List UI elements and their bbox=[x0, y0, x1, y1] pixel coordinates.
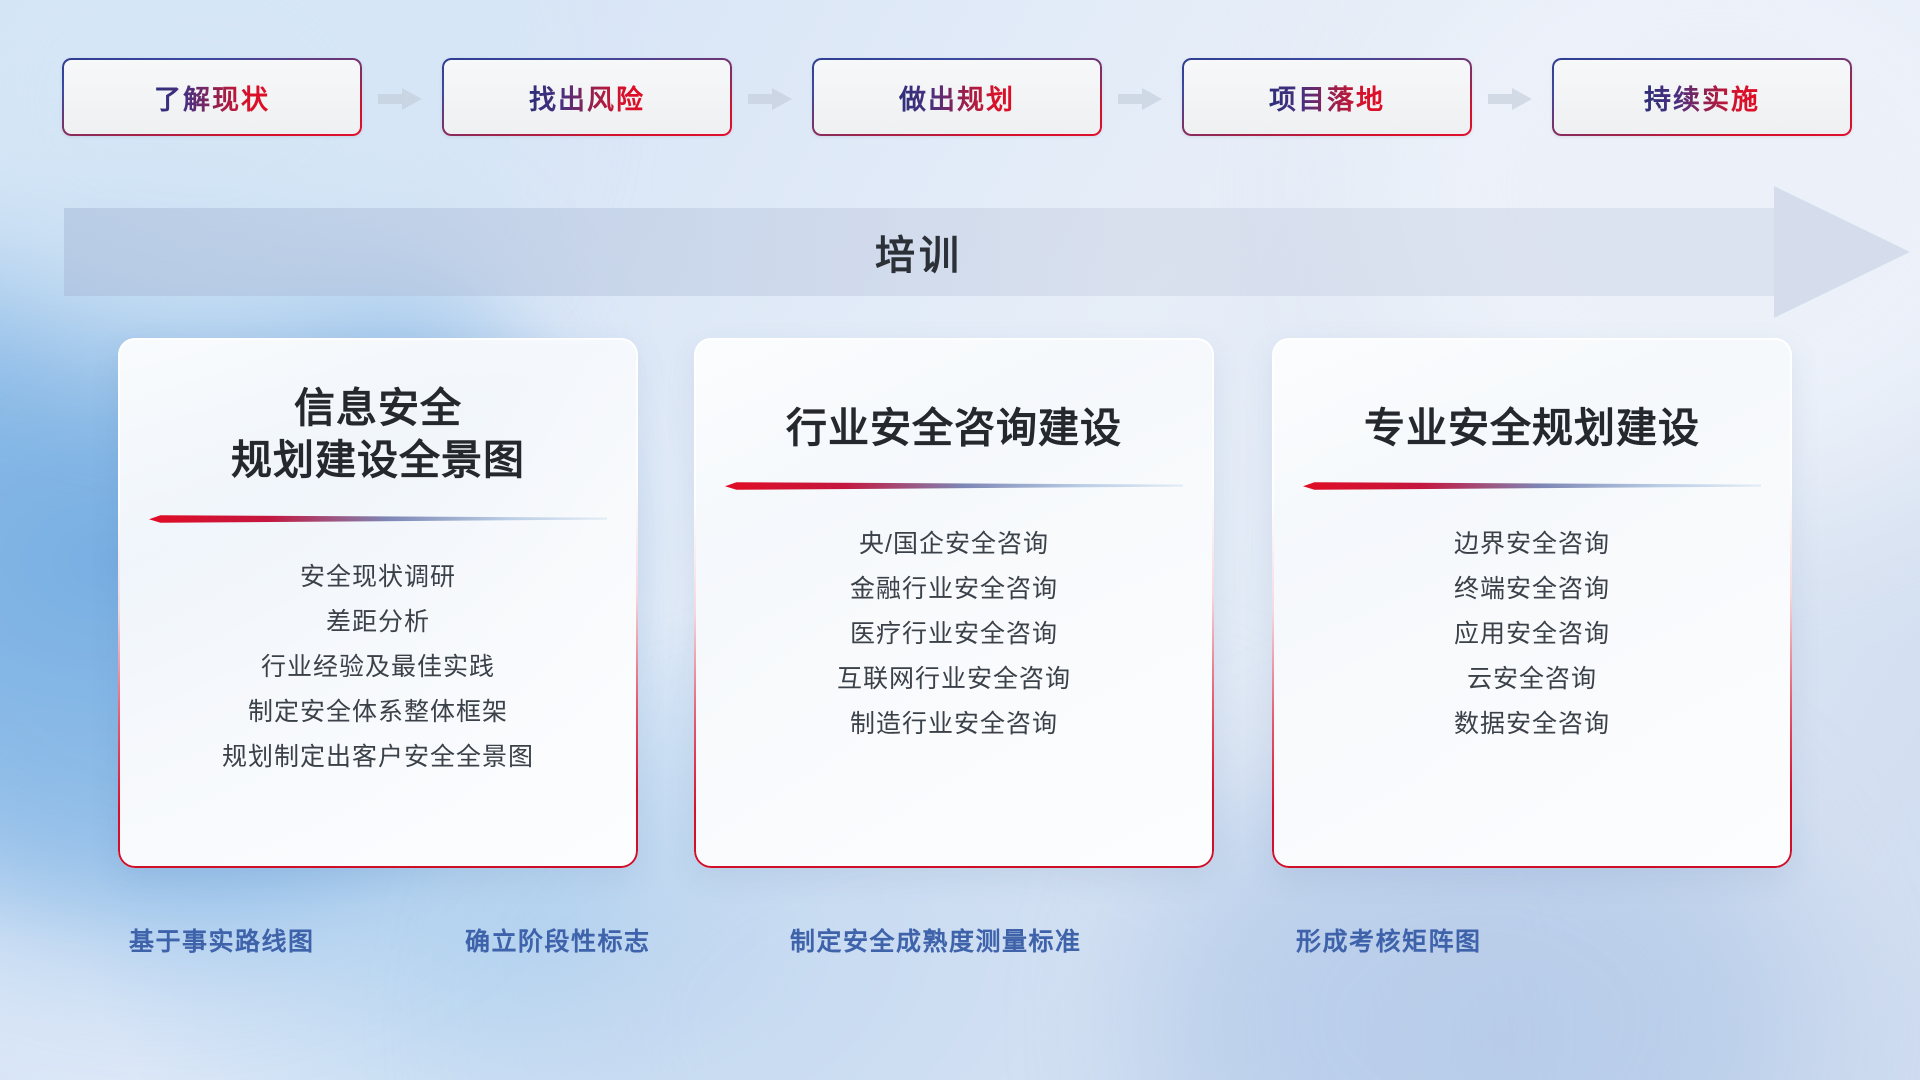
caption-roadmap: 基于事实路线图 bbox=[129, 922, 315, 958]
right-arrow-icon bbox=[1118, 88, 1162, 110]
card-info-security-blueprint[interactable]: 信息安全 规划建设全景图 安全现状调研 bbox=[118, 338, 638, 868]
right-arrow-icon bbox=[1488, 88, 1532, 110]
list-item: 医疗行业安全咨询 bbox=[694, 612, 1214, 657]
card-item-list: 央/国企安全咨询 金融行业安全咨询 医疗行业安全咨询 互联网行业安全咨询 制造行… bbox=[694, 522, 1214, 747]
list-item: 安全现状调研 bbox=[118, 555, 638, 600]
card-item-list: 安全现状调研 差距分析 行业经验及最佳实践 制定安全体系整体框架 规划制定出客户… bbox=[118, 555, 638, 780]
card-title: 信息安全 规划建设全景图 bbox=[231, 338, 525, 487]
list-item: 云安全咨询 bbox=[1272, 657, 1792, 702]
card-divider bbox=[725, 480, 1183, 492]
list-item: 制造行业安全咨询 bbox=[694, 702, 1214, 747]
card-professional-security-planning[interactable]: 专业安全规划建设 边界安全咨询 bbox=[1272, 338, 1792, 868]
list-item: 数据安全咨询 bbox=[1272, 702, 1792, 747]
step-label: 持续实施 bbox=[1644, 78, 1760, 117]
list-item: 央/国企安全咨询 bbox=[694, 522, 1214, 567]
step-label: 找出风险 bbox=[529, 78, 645, 117]
list-item: 规划制定出客户安全全景图 bbox=[118, 735, 638, 780]
list-item: 行业经验及最佳实践 bbox=[118, 645, 638, 690]
list-item: 差距分析 bbox=[118, 600, 638, 645]
step-label: 了解现状 bbox=[154, 78, 270, 117]
step-label: 项目落地 bbox=[1269, 78, 1385, 117]
card-title: 行业安全咨询建设 bbox=[786, 338, 1122, 454]
band-title: 培训 bbox=[64, 208, 1774, 296]
step-item-3[interactable]: 做出规划 bbox=[812, 58, 1102, 136]
list-item: 终端安全咨询 bbox=[1272, 567, 1792, 612]
caption-maturity: 制定安全成熟度测量标准 bbox=[790, 922, 1082, 958]
process-step-flow: 了解现状 找出风险 做出规划 项目落地 持续实施 bbox=[0, 58, 1920, 140]
card-industry-security-consulting[interactable]: 行业安全咨询建设 央/国企安全咨询 bbox=[694, 338, 1214, 868]
card-title: 专业安全规划建设 bbox=[1364, 338, 1700, 454]
card-item-list: 边界安全咨询 终端安全咨询 应用安全咨询 云安全咨询 数据安全咨询 bbox=[1272, 522, 1792, 747]
list-item: 互联网行业安全咨询 bbox=[694, 657, 1214, 702]
slide-canvas: 了解现状 找出风险 做出规划 项目落地 持续实施 培训 bbox=[0, 0, 1920, 1080]
card-divider bbox=[149, 513, 607, 525]
caption-matrix: 形成考核矩阵图 bbox=[1296, 922, 1482, 958]
card-divider bbox=[1303, 480, 1761, 492]
step-item-4[interactable]: 项目落地 bbox=[1182, 58, 1472, 136]
step-item-1[interactable]: 了解现状 bbox=[62, 58, 362, 136]
band-arrow-tip bbox=[1774, 186, 1910, 318]
background-blob bbox=[0, 0, 500, 360]
list-item: 制定安全体系整体框架 bbox=[118, 690, 638, 735]
list-item: 金融行业安全咨询 bbox=[694, 567, 1214, 612]
step-item-2[interactable]: 找出风险 bbox=[442, 58, 732, 136]
list-item: 应用安全咨询 bbox=[1272, 612, 1792, 657]
step-item-5[interactable]: 持续实施 bbox=[1552, 58, 1852, 136]
caption-milestones: 确立阶段性标志 bbox=[465, 922, 651, 958]
right-arrow-icon bbox=[748, 88, 792, 110]
step-label: 做出规划 bbox=[899, 78, 1015, 117]
list-item: 边界安全咨询 bbox=[1272, 522, 1792, 567]
training-band: 培训 bbox=[64, 208, 1846, 296]
right-arrow-icon bbox=[378, 88, 422, 110]
